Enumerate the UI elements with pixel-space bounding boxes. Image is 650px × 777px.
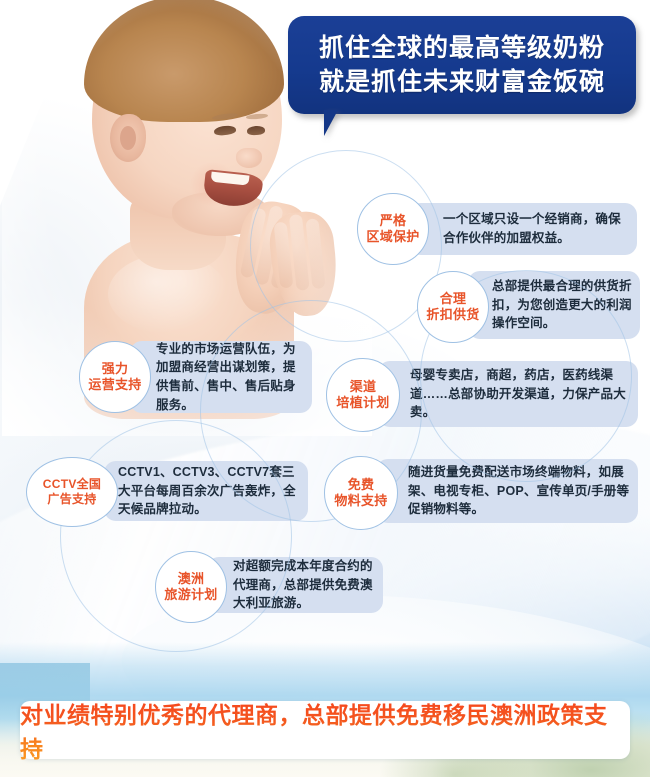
bottom-banner: 对业绩特别优秀的代理商，总部提供免费移民澳洲政策支持 (20, 701, 630, 759)
bottom-banner-text: 对业绩特别优秀的代理商，总部提供免费移民澳洲政策支持 (20, 696, 630, 764)
feature-badge-line-2: 折扣供货 (426, 307, 479, 323)
feature-badge-australia-travel-plan[interactable]: 澳洲 旅游计划 (155, 551, 227, 623)
feature-badge-operation-support[interactable]: 强力 运营支持 (79, 341, 151, 413)
feature-badge-line-1: CCTV全国 (43, 477, 101, 492)
feature-badge-line-2: 物料支持 (334, 493, 387, 509)
baby-teeth (211, 172, 250, 186)
feature-badge-line-1: 强力 (102, 361, 129, 377)
feature-badge-cctv-ad-support[interactable]: CCTV全国 广告支持 (26, 457, 118, 527)
feature-badge-channel-plan[interactable]: 渠道 培植计划 (326, 358, 400, 432)
feature-badge-free-material-support[interactable]: 免费 物料支持 (324, 456, 398, 530)
feature-badge-discount-supply[interactable]: 合理 折扣供货 (417, 271, 489, 343)
headline-line-2: 就是抓住未来财富金饭碗 (319, 65, 605, 100)
feature-badge-line-2: 广告支持 (47, 492, 96, 507)
feature-body-text: 一个区域只设一个经销商，确保合作伙伴的加盟权益。 (443, 210, 627, 248)
feature-badge-line-2: 旅游计划 (164, 587, 217, 603)
feature-badge-line-1: 免费 (348, 477, 375, 493)
feature-badge-line-1: 渠道 (350, 379, 377, 395)
headline-speech-bubble: 抓住全球的最高等级奶粉 就是抓住未来财富金饭碗 (288, 16, 636, 114)
feature-panel: 一个区域只设一个经销商，确保合作伙伴的加盟权益。 (409, 203, 637, 255)
feature-badge-regional-protection[interactable]: 严格 区域保护 (357, 193, 429, 265)
feature-badge-line-2: 区域保护 (366, 229, 419, 245)
baby-nose (236, 148, 262, 168)
speech-bubble-tail (324, 110, 352, 136)
feature-badge-line-1: 严格 (380, 213, 407, 229)
promo-poster: 抓住全球的最高等级奶粉 就是抓住未来财富金饭碗 一个区域只设一个经销商，确保合作… (0, 0, 650, 777)
feature-badge-line-2: 运营支持 (88, 377, 141, 393)
feature-badge-line-1: 合理 (440, 291, 467, 307)
feature-badge-line-1: 澳洲 (178, 571, 205, 587)
headline-line-1: 抓住全球的最高等级奶粉 (319, 31, 605, 66)
baby-ear-inner (120, 126, 136, 150)
headline-text-group: 抓住全球的最高等级奶粉 就是抓住未来财富金饭碗 (288, 16, 636, 114)
feature-badge-line-2: 培植计划 (336, 395, 389, 411)
